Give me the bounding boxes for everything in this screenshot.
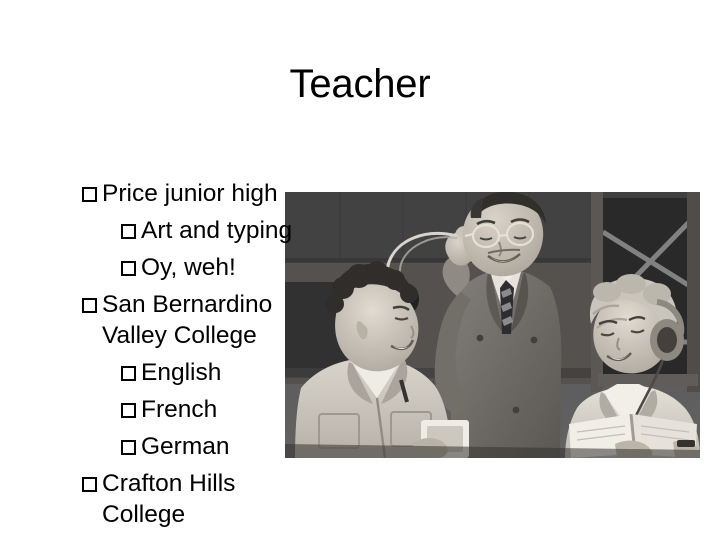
list-item[interactable]: Art and typing (80, 215, 295, 246)
list-item[interactable]: Oy, weh! (80, 252, 295, 283)
square-bullet-icon (82, 477, 97, 492)
list-item-label: College (102, 501, 185, 528)
page-title: Teacher (0, 60, 720, 108)
list-item[interactable]: Price junior high (80, 178, 295, 209)
bullet-list: Price junior high Art and typing Oy, weh… (80, 178, 295, 536)
list-item-label: Oy, weh! (141, 254, 236, 281)
square-bullet-icon (121, 261, 136, 276)
list-item[interactable]: German (80, 431, 295, 462)
list-item-label: San Bernardino (102, 291, 272, 318)
list-item-label: English (141, 359, 221, 386)
square-bullet-icon (121, 366, 136, 381)
square-bullet-icon (121, 403, 136, 418)
list-item[interactable]: Crafton Hills (80, 468, 295, 499)
list-item-label: Price junior high (102, 180, 278, 207)
square-bullet-icon (82, 298, 97, 313)
list-item-label: German (141, 433, 230, 460)
slide: Teacher Price junior high Art and typing… (0, 0, 720, 540)
list-item-label: Crafton Hills (102, 470, 235, 497)
list-item-label: French (141, 396, 217, 423)
list-item-label: Valley College (102, 322, 257, 349)
classroom-photo (285, 192, 700, 458)
list-item[interactable]: San Bernardino (80, 289, 295, 320)
list-item-continuation: Valley College (80, 320, 295, 351)
list-item[interactable]: French (80, 394, 295, 425)
list-item[interactable]: English (80, 357, 295, 388)
square-bullet-icon (82, 187, 97, 202)
square-bullet-icon (121, 224, 136, 239)
square-bullet-icon (121, 440, 136, 455)
list-item-label: Art and typing (141, 217, 292, 244)
list-item-continuation: College (80, 499, 295, 530)
